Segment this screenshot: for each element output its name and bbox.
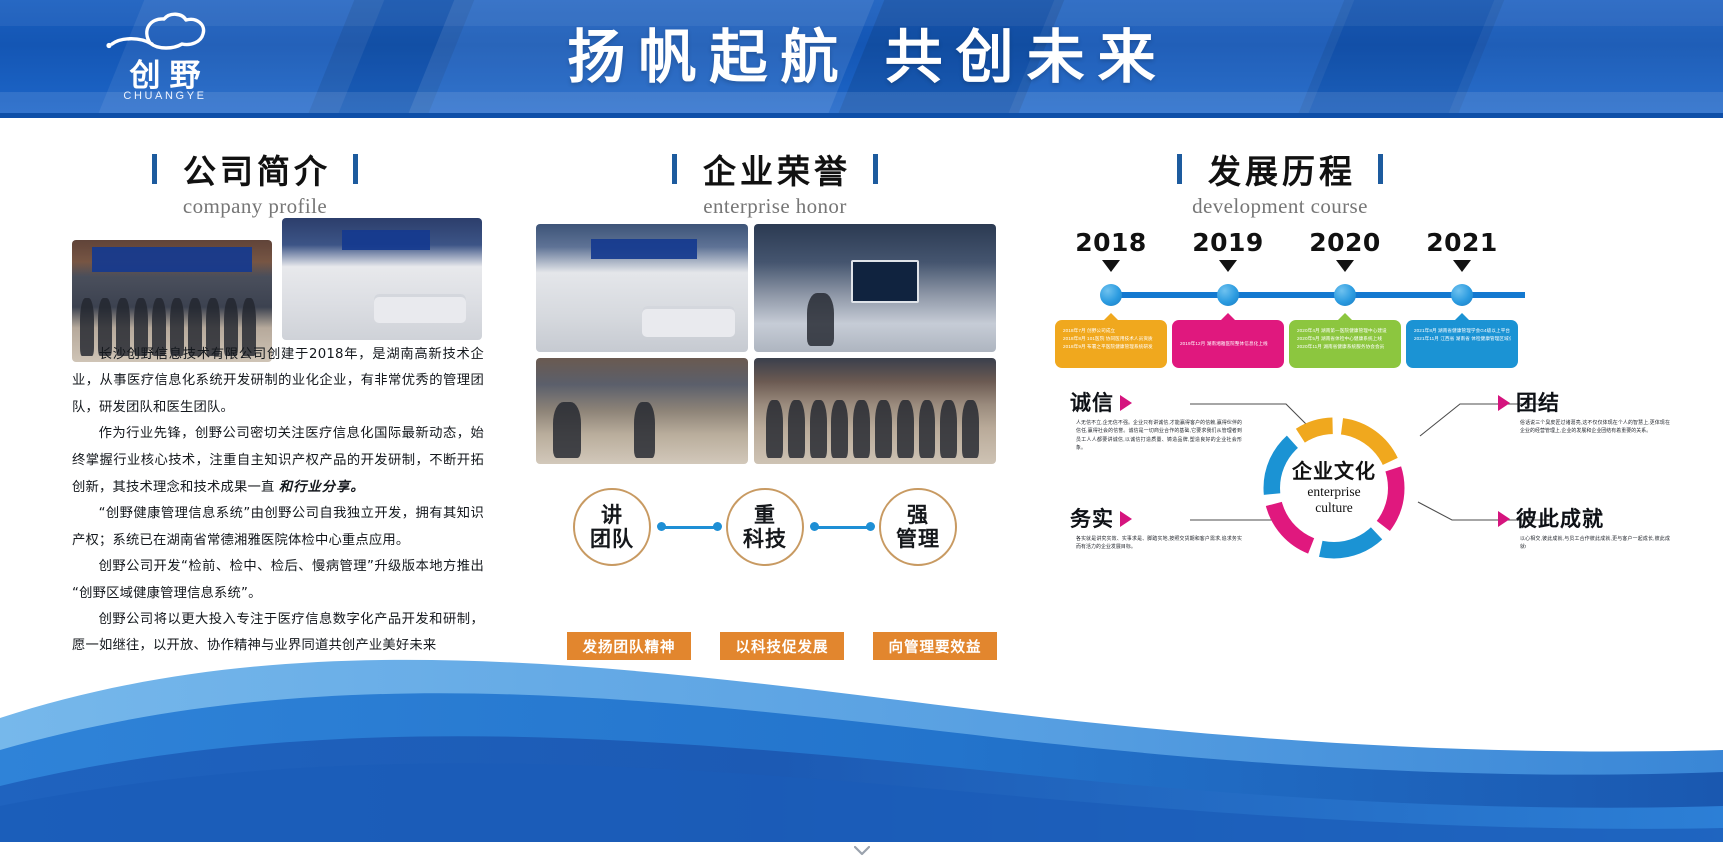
header-underline <box>0 113 1723 118</box>
section-heading-company-profile: 公司简介 company profile <box>110 148 400 219</box>
milestone-event: 2018年8月 101医院 协同医用技术人员资质 <box>1063 335 1160 343</box>
connector-dot <box>713 522 722 531</box>
honor-photo-4 <box>754 358 996 464</box>
photo-sofa <box>374 294 466 323</box>
honor-photo-2 <box>754 224 996 352</box>
milestone-event: 2020年4月 湖南第一医院健康管理中心建设 <box>1297 327 1394 335</box>
heading-bar-left <box>1177 154 1182 184</box>
value-body: 各实就是讲究实效、实事求是、脚踏实地,按照交货期和客户需求,追求务实而有活力的企… <box>1070 536 1242 553</box>
value-body: 以心相交,彼此成就,与员工合作彼此成就,更与客户一起成长,彼此成就! <box>1498 536 1670 553</box>
heading-bar-right <box>873 154 878 184</box>
timeline-milestone-2020: 2020 2020年4月 湖南第一医院健康管理中心建设 2020年5月 湖南省体… <box>1289 228 1401 272</box>
badge-connector <box>661 526 718 529</box>
milestone-event: 2018年7月 创野公司成立 <box>1063 327 1160 335</box>
badge-team: 讲 团队 <box>573 488 651 566</box>
arrow-right-icon <box>1498 511 1510 527</box>
culture-value-unity: 团结 俗话说三个臭皮匠过诸葛亮,这不仅仅体现在个人的智慧上,更体现在企业的经营管… <box>1498 390 1670 437</box>
timeline-milestone-2021: 2021 2021年8月 湖南省健康管理学会G4级以上平台 2021年11月 江… <box>1406 228 1518 272</box>
photo-people-silhouettes <box>754 282 996 352</box>
culture-center-label: 企业文化 enterprise culture <box>1280 434 1388 542</box>
badge-connector <box>814 526 871 529</box>
badge-line-1: 重 <box>754 503 776 527</box>
caret-down-icon <box>1219 260 1237 272</box>
milestone-card: 2020年4月 湖南第一医院健康管理中心建设 2020年5月 湖南省体检中心健康… <box>1289 320 1401 368</box>
badge-line-2: 管理 <box>896 527 940 551</box>
photo-sofa <box>642 306 735 337</box>
poster-title: 扬帆起航 共创未来 <box>0 24 1723 90</box>
poster-header: 创野 CHUANGYE 扬帆起航 共创未来 <box>0 0 1723 113</box>
milestone-event: 2019年12月 湖南湘雅医院整体信息化上线 <box>1180 340 1268 348</box>
milestone-card: 2018年7月 创野公司成立 2018年8月 101医院 协同医用技术人员资质 … <box>1055 320 1167 368</box>
profile-paragraph: 作为行业先锋，创野公司密切关注医疗信息化国际最新动态，始终掌握行业核心技术，注重… <box>72 421 484 501</box>
milestone-year: 2019 <box>1172 228 1284 257</box>
badge-line-2: 团队 <box>590 527 634 551</box>
photo-banner <box>591 239 697 258</box>
arrow-right-icon <box>1120 511 1132 527</box>
chevron-down-icon[interactable] <box>846 844 878 858</box>
milestone-card: 2019年12月 湖南湘雅医院整体信息化上线 <box>1172 320 1284 368</box>
badge-line-2: 科技 <box>743 527 787 551</box>
milestone-event: 2020年5月 湖南省体检中心健康系统上线 <box>1297 335 1394 343</box>
timeline-node <box>1217 284 1239 306</box>
culture-wall-poster: 创野 CHUANGYE 扬帆起航 共创未来 公司简介 company profi… <box>0 0 1723 860</box>
culture-center-en-line2: culture <box>1315 500 1352 516</box>
culture-value-mutual-achievement: 彼此成就 以心相交,彼此成就,与员工合作彼此成就,更与客户一起成长,彼此成就! <box>1498 506 1670 553</box>
heading-bar-right <box>1378 154 1383 184</box>
value-badge-row: 讲 团队 重 科技 强 管理 <box>545 488 995 568</box>
heading-bar-right <box>353 154 358 184</box>
value-title: 诚信 <box>1070 390 1114 416</box>
culture-value-integrity: 诚信 人无信不立,企无信不强。企业只有讲诚信,才能赢得客户的信赖,赢得伙伴的信任… <box>1070 390 1242 454</box>
handwritten-phrase: 和行业分享。 <box>279 479 365 494</box>
heading-cn: 公司简介 <box>179 145 331 193</box>
value-body: 俗话说三个臭皮匠过诸葛亮,这不仅仅体现在个人的智慧上,更体现在企业的经营管理上,… <box>1498 420 1670 437</box>
development-timeline: 2018 2018年7月 创野公司成立 2018年8月 101医院 协同医用技术… <box>1055 228 1595 373</box>
logo-latin-name: CHUANGYE <box>90 90 240 102</box>
culture-value-pragmatism: 务实 各实就是讲究实效、实事求是、脚踏实地,按照交货期和客户需求,追求务实而有活… <box>1070 506 1242 553</box>
milestone-year: 2018 <box>1055 228 1167 257</box>
milestone-year: 2020 <box>1289 228 1401 257</box>
enterprise-culture-diagram: 企业文化 enterprise culture 诚信 人无信不立,企无信不强。企… <box>1070 390 1670 590</box>
value-body: 人无信不立,企无信不强。企业只有讲诚信,才能赢得客户的信赖,赢得伙伴的信任,赢得… <box>1070 420 1242 454</box>
footer-wave-graphic <box>0 600 1723 860</box>
caret-down-icon <box>1453 260 1471 272</box>
heading-bar-left <box>672 154 677 184</box>
caret-down-icon <box>1102 260 1120 272</box>
honor-photo-1 <box>536 224 748 352</box>
caret-down-icon <box>1336 260 1354 272</box>
heading-en: development course <box>1165 194 1395 219</box>
photo-banner <box>92 247 252 271</box>
honor-photo-3 <box>536 358 748 464</box>
profile-paragraph: “创野健康管理信息系统”由创野公司自我独立开发，拥有其知识产权；系统已在湖南省常… <box>72 501 484 554</box>
timeline-node <box>1451 284 1473 306</box>
milestone-event: 2020年11月 湖南省健康系统服务协会会员 <box>1297 343 1394 351</box>
heading-en: company profile <box>110 194 400 219</box>
photo-people-silhouettes <box>754 388 996 464</box>
section-heading-development-course: 发展历程 development course <box>1165 148 1395 219</box>
profile-photo-office <box>282 218 482 340</box>
timeline-node <box>1100 284 1122 306</box>
header-stripe-bottom <box>0 92 1723 113</box>
milestone-event: 2018年9月 布署之平医院健康管理系统研发 <box>1063 343 1160 351</box>
timeline-milestone-2018: 2018 2018年7月 创野公司成立 2018年8月 101医院 协同医用技术… <box>1055 228 1167 272</box>
milestone-event: 2021年8月 湖南省健康管理学会G4级以上平台 <box>1414 327 1511 335</box>
culture-center-en-line1: enterprise <box>1307 484 1360 500</box>
connector-dot <box>866 522 875 531</box>
milestone-event: 2021年11月 江西省 湖南省 体检健康管理区域化精准服务站 <box>1414 335 1511 343</box>
section-heading-enterprise-honor: 企业荣誉 enterprise honor <box>660 148 890 219</box>
photo-banner <box>342 230 430 250</box>
milestone-card: 2021年8月 湖南省健康管理学会G4级以上平台 2021年11月 江西省 湖南… <box>1406 320 1518 368</box>
wave-svg <box>0 600 1723 860</box>
connector-dot <box>810 522 819 531</box>
arrow-right-icon <box>1498 395 1510 411</box>
chevron-glyph <box>854 846 870 856</box>
heading-cn: 企业荣誉 <box>699 145 851 193</box>
badge-management: 强 管理 <box>879 488 957 566</box>
value-title: 务实 <box>1070 506 1114 532</box>
timeline-node <box>1334 284 1356 306</box>
photo-people-silhouettes <box>536 390 748 464</box>
value-title: 彼此成就 <box>1516 506 1604 532</box>
arrow-right-icon <box>1120 395 1132 411</box>
badge-line-1: 强 <box>907 503 929 527</box>
heading-cn: 发展历程 <box>1204 145 1356 193</box>
profile-paragraph: 长沙创野信息技术有限公司创建于2018年，是湖南高新技术企业，从事医疗信息化系统… <box>72 342 484 421</box>
timeline-milestone-2019: 2019 2019年12月 湖南湘雅医院整体信息化上线 <box>1172 228 1284 272</box>
milestone-year: 2021 <box>1406 228 1518 257</box>
connector-dot <box>657 522 666 531</box>
badge-technology: 重 科技 <box>726 488 804 566</box>
heading-bar-left <box>152 154 157 184</box>
badge-line-1: 讲 <box>601 503 623 527</box>
value-title: 团结 <box>1516 390 1560 416</box>
culture-ring: 企业文化 enterprise culture <box>1258 412 1410 564</box>
culture-center-cn: 企业文化 <box>1292 461 1376 484</box>
heading-en: enterprise honor <box>660 194 890 219</box>
